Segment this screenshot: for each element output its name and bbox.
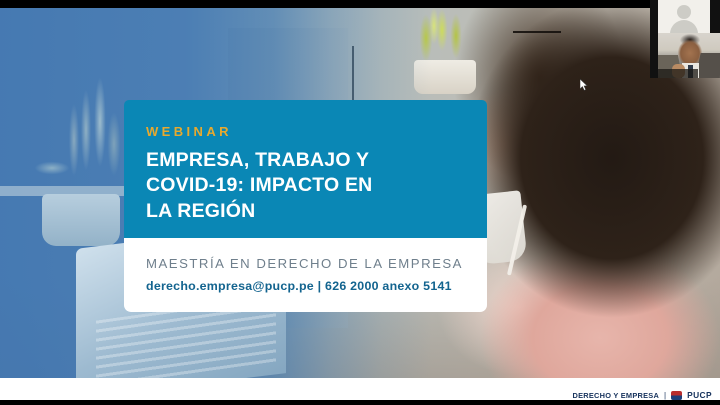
screen-share-stage: WEBINAR EMPRESA, TRABAJO Y COVID-19: IMP… [0,0,720,405]
webcam-tile-letterbox-left [650,33,658,78]
slide-title-line-2: COVID-19: IMPACTO EN [146,173,487,198]
slide-title-card-blue-panel: WEBINAR EMPRESA, TRABAJO Y COVID-19: IMP… [124,100,487,238]
slide-title-line-3: LA REGIÓN [146,199,487,224]
slide-footer-bar: DERECHO Y EMPRESA | PUCP [0,378,720,400]
slide-title-line-1: EMPRESA, TRABAJO Y [146,148,487,173]
webcam-jacket-right [695,53,720,78]
person-placeholder-icon-body [670,20,698,33]
letterbox-bar-bottom [0,400,720,405]
slide-program-name: MAESTRÍA EN DERECHO DE LA EMPRESA [146,256,487,271]
tile-letterbox-right [710,0,720,33]
footer-brand-label: PUCP [687,390,712,400]
slide-contact-info: derecho.empresa@pucp.pe | 626 2000 anexo… [146,279,487,293]
tile-letterbox-left [650,0,658,33]
mouse-cursor-icon [580,79,588,91]
webcam-foreground-shadow [658,69,698,78]
shared-screen-video[interactable]: WEBINAR EMPRESA, TRABAJO Y COVID-19: IMP… [0,8,720,378]
slide-footer-branding: DERECHO Y EMPRESA | PUCP [573,388,712,400]
pucp-shield-icon [671,391,682,400]
footer-unit-label: DERECHO Y EMPRESA [573,391,660,400]
slide-kicker: WEBINAR [146,124,487,139]
participant-tile-webcam[interactable] [658,33,720,78]
photo-plant-pot-left [42,194,120,246]
slide-title-card-white-panel: MAESTRÍA EN DERECHO DE LA EMPRESA derech… [124,238,487,312]
participant-tile-avatar[interactable] [658,0,710,33]
slide-title-card: WEBINAR EMPRESA, TRABAJO Y COVID-19: IMP… [124,100,487,312]
person-placeholder-icon-head [677,5,691,19]
footer-separator: | [664,391,666,400]
letterbox-bar-top [0,0,720,8]
